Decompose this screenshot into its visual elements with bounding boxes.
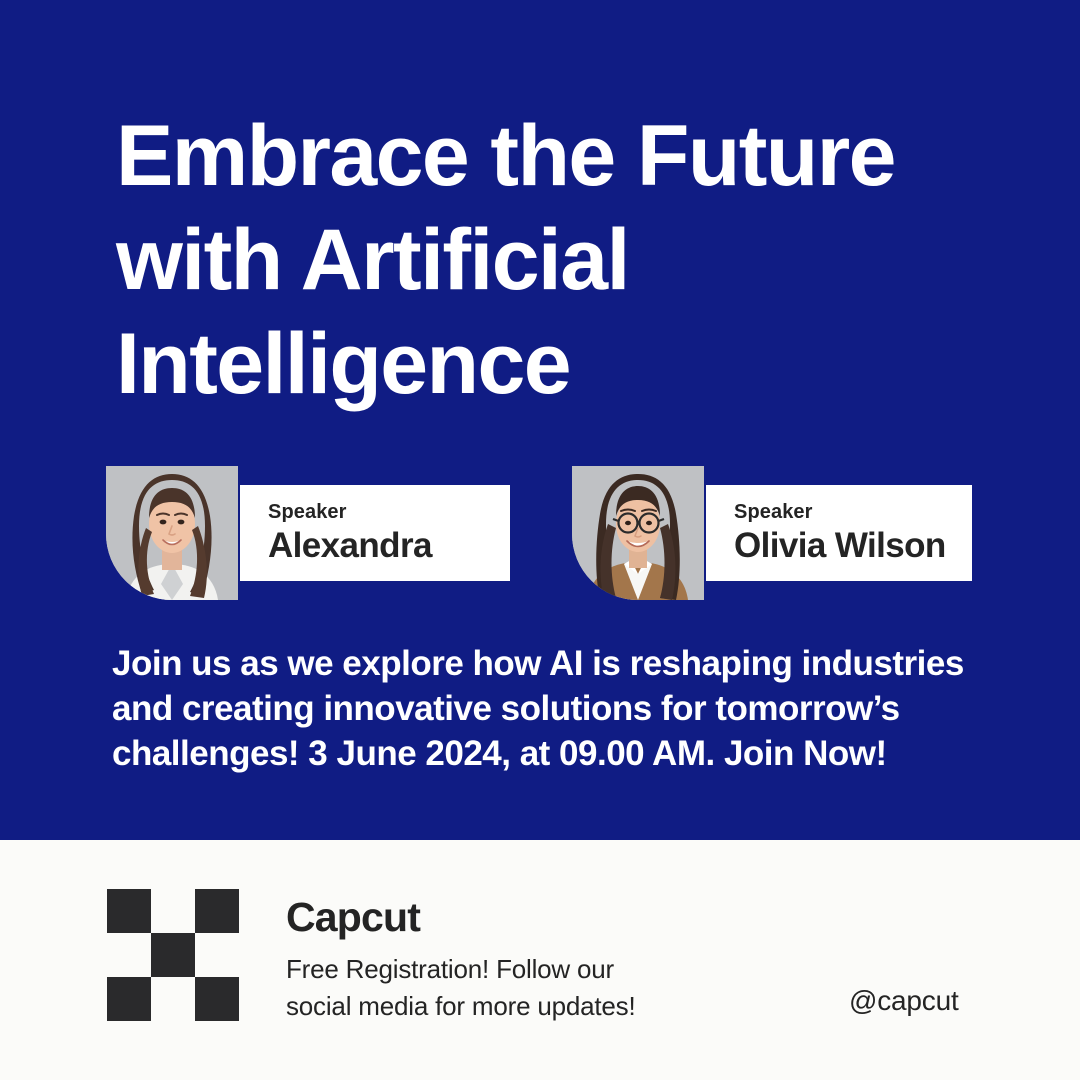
social-handle[interactable]: @capcut — [849, 985, 959, 1017]
tagline-line-1: Free Registration! Follow our — [286, 951, 766, 988]
speaker-role-label: Speaker — [268, 500, 510, 524]
speaker-card-olivia-wilson: Speaker Olivia Wilson — [572, 466, 972, 600]
speaker-name-plate: Speaker Olivia Wilson — [706, 485, 972, 581]
logo-cell — [151, 977, 195, 1021]
title-line-3: Intelligence — [116, 312, 1016, 416]
description-line-1: Join us as we explore how AI is reshapin… — [112, 641, 992, 686]
description-line-2: and creating innovative solutions for to… — [112, 686, 992, 731]
event-description: Join us as we explore how AI is reshapin… — [112, 641, 992, 776]
page-title: Embrace the Future with Artificial Intel… — [116, 104, 1016, 416]
logo-cell — [195, 977, 239, 1021]
logo-cell — [151, 933, 195, 977]
brand-name: Capcut — [286, 893, 766, 941]
speaker-avatar — [106, 466, 238, 600]
speaker-card-alexandra: Speaker Alexandra — [106, 466, 510, 600]
logo-cell — [195, 933, 239, 977]
speaker-name-plate: Speaker Alexandra — [240, 485, 510, 581]
speaker-name: Olivia Wilson — [734, 525, 972, 567]
brand-tagline: Free Registration! Follow our social med… — [286, 951, 766, 1025]
logo-cell — [151, 889, 195, 933]
logo-cell — [107, 933, 151, 977]
event-poster: Embrace the Future with Artificial Intel… — [0, 0, 1080, 1080]
brand-block: Capcut Free Registration! Follow our soc… — [286, 893, 766, 1025]
title-line-1: Embrace the Future — [116, 104, 1016, 208]
speaker-list: Speaker Alexandra — [106, 466, 986, 606]
tagline-line-2: social media for more updates! — [286, 988, 766, 1025]
speaker-name: Alexandra — [268, 525, 510, 567]
speaker-role-label: Speaker — [734, 500, 972, 524]
logo-cell — [107, 977, 151, 1021]
description-line-3: challenges! 3 June 2024, at 09.00 AM. Jo… — [112, 731, 992, 776]
checkerboard-logo-icon — [107, 889, 239, 1021]
logo-cell — [107, 889, 151, 933]
logo-cell — [195, 889, 239, 933]
title-line-2: with Artificial — [116, 208, 1016, 312]
speaker-avatar — [572, 466, 704, 600]
